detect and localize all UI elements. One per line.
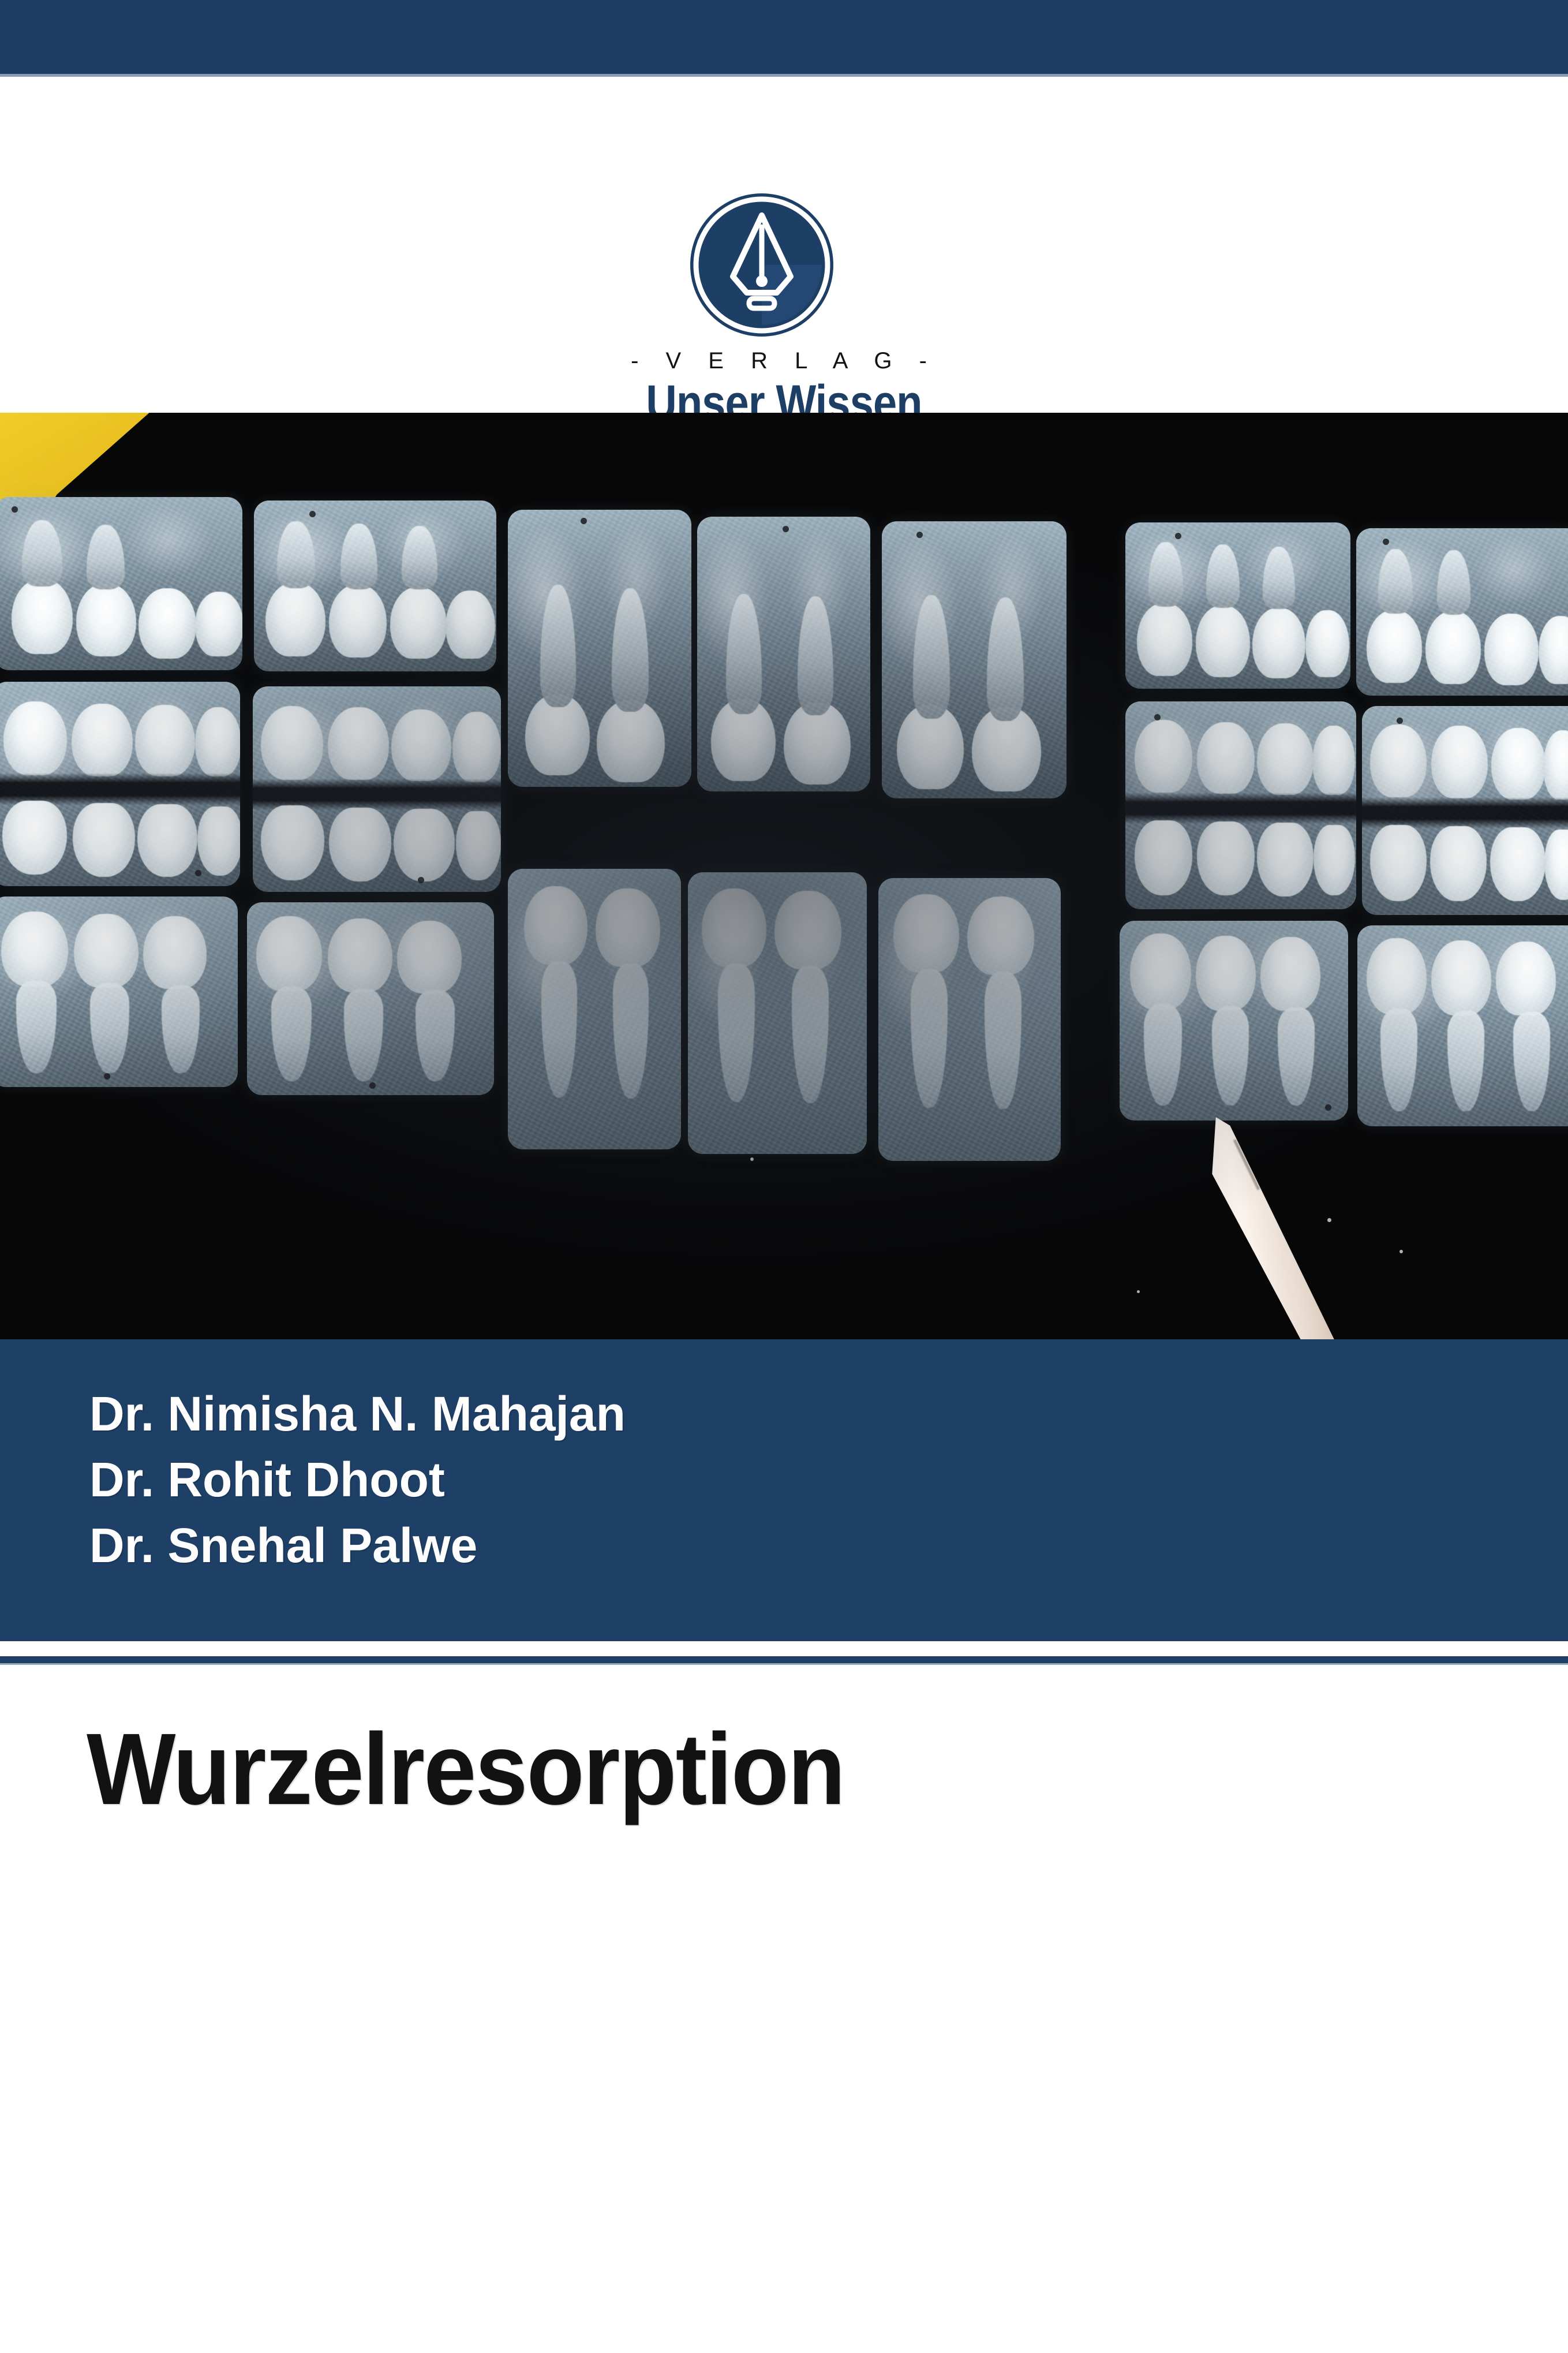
author-name: Dr. Snehal Palwe	[89, 1512, 626, 1578]
xray-film	[1362, 706, 1568, 915]
publisher-logo-block: - V E R L A G - Unser Wissen	[0, 77, 1568, 413]
xray-film	[1120, 921, 1348, 1121]
xray-film	[1125, 522, 1350, 689]
publisher-kicker: - V E R L A G -	[0, 348, 1568, 374]
divider-gap	[0, 1641, 1568, 1656]
xray-film	[1125, 701, 1356, 909]
cover-photo	[0, 413, 1568, 1339]
xray-film	[508, 510, 691, 787]
title-area: Wurzelresorption	[0, 1665, 1568, 2353]
xray-film	[0, 897, 238, 1087]
fountain-pen-nib-icon	[688, 191, 836, 339]
divider-stripe	[0, 1656, 1568, 1663]
xray-film	[878, 878, 1061, 1161]
xray-film	[254, 501, 496, 671]
light-speck	[750, 1157, 754, 1161]
book-title: Wurzelresorption	[87, 1711, 844, 1828]
xray-film	[247, 902, 494, 1095]
author-list: Dr. Nimisha N. Mahajan Dr. Rohit Dhoot D…	[89, 1381, 626, 1579]
xray-film	[253, 686, 501, 892]
light-speck	[1399, 1250, 1403, 1253]
top-navy-bar	[0, 0, 1568, 76]
xray-film-grid	[0, 413, 1568, 1339]
xray-film	[697, 517, 870, 791]
author-name: Dr. Nimisha N. Mahajan	[89, 1381, 626, 1447]
light-speck	[1327, 1218, 1331, 1222]
xray-film	[508, 869, 681, 1149]
light-speck	[1137, 1290, 1140, 1293]
xray-film	[1356, 528, 1568, 696]
xray-film	[882, 521, 1066, 798]
xray-film	[688, 872, 867, 1154]
xray-film	[0, 682, 240, 886]
xray-film	[0, 497, 242, 670]
author-band: Dr. Nimisha N. Mahajan Dr. Rohit Dhoot D…	[0, 1339, 1568, 1641]
author-name: Dr. Rohit Dhoot	[89, 1447, 626, 1512]
xray-film	[1357, 925, 1568, 1126]
